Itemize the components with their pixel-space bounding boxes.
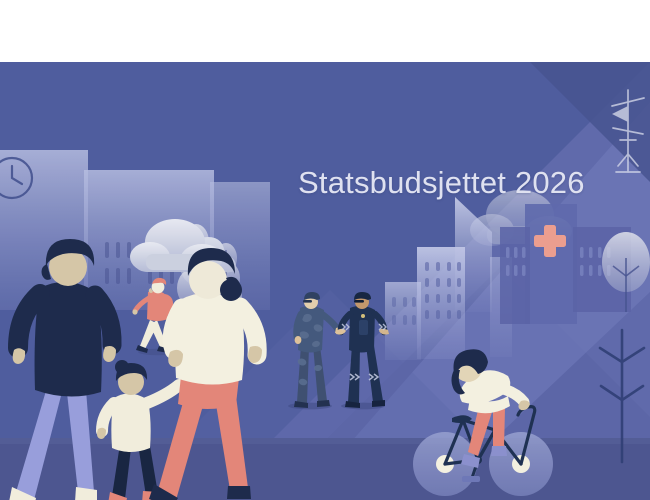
- illustration-canvas: [0, 62, 650, 500]
- page-root: Statsbudsjettet 2026: [0, 0, 650, 500]
- overlay-tint: [0, 62, 650, 500]
- hero-illustration: Statsbudsjettet 2026: [0, 62, 650, 500]
- top-white-band: [0, 0, 650, 62]
